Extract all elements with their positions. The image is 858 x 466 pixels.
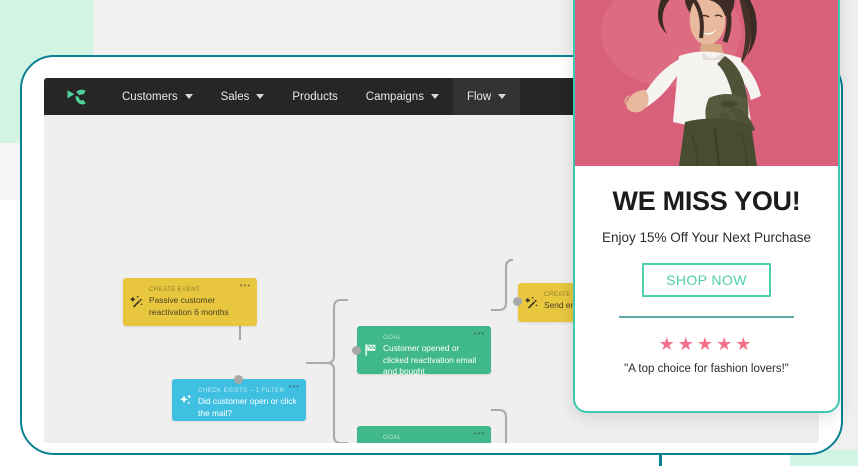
nav-item-campaigns[interactable]: Campaigns [352, 78, 453, 115]
shop-now-button[interactable]: SHOP NOW [642, 263, 771, 297]
star-rating-icon: ★★★★★ [593, 335, 820, 353]
nav-item-label: Products [292, 91, 337, 103]
nav-item-label: Flow [467, 91, 491, 103]
magic-wand-icon [129, 295, 144, 310]
nav-item-label: Campaigns [366, 91, 424, 103]
node-body-text: Passive customer reactivation 6 months [149, 295, 249, 318]
node-kicker: CREATE EVENT [149, 285, 249, 294]
flag-icon [363, 343, 378, 358]
convertkit-c-logo-icon [63, 83, 91, 111]
node-kicker: CHECK EXISTS – 1 FILTER [198, 386, 298, 395]
node-kicker: GOAL [383, 333, 483, 342]
nav-item-customers[interactable]: Customers [108, 78, 207, 115]
flow-node-create-event-reactivation[interactable]: ••• CREATE EVENT Passive customer reacti… [123, 278, 257, 326]
flow-node-goal-not-opened-but-bought[interactable]: ••• GOAL Customer did not open or click … [357, 426, 491, 443]
flow-node-goal-opened-and-bought[interactable]: ••• GOAL Customer opened or clicked reac… [357, 326, 491, 374]
nav-item-products[interactable]: Products [278, 78, 351, 115]
chevron-down-icon [498, 94, 506, 99]
node-body-text: Did customer open or click the mail? [198, 396, 298, 419]
popup-divider [619, 316, 794, 318]
sparkle-filter-icon [178, 393, 193, 408]
flag-icon [363, 443, 378, 444]
nav-item-label: Sales [221, 91, 250, 103]
popup-headline: WE MISS YOU! [593, 186, 820, 216]
app-logo[interactable] [62, 82, 92, 112]
flow-node-check-exists-filter[interactable]: ••• CHECK EXISTS – 1 FILTER Did customer… [172, 379, 306, 421]
nav-item-label: Customers [122, 91, 178, 103]
magic-wand-icon [524, 295, 539, 310]
smiling-woman-pink-background-photo [575, 0, 838, 166]
chevron-down-icon [185, 94, 193, 99]
hero-photo [575, 0, 838, 166]
node-body-text: Customer opened or clicked reactivation … [383, 343, 483, 378]
chevron-down-icon [256, 94, 264, 99]
nav-item-flow[interactable]: Flow [453, 78, 520, 115]
email-popup-preview-card: WE MISS YOU! Enjoy 15% Off Your Next Pur… [573, 0, 840, 413]
popup-subheadline: Enjoy 15% Off Your Next Purchase [593, 229, 820, 247]
node-kicker: GOAL [383, 433, 483, 442]
node-input-port[interactable] [352, 346, 361, 355]
nav-items-list: Customers Sales Products Campaigns Flow [108, 78, 520, 115]
node-input-port[interactable] [513, 297, 522, 306]
popup-testimonial-quote: "A top choice for fashion lovers!" [593, 363, 820, 375]
chevron-down-icon [431, 94, 439, 99]
popup-content: WE MISS YOU! Enjoy 15% Off Your Next Pur… [575, 166, 838, 375]
node-input-port[interactable] [234, 375, 243, 384]
nav-item-sales[interactable]: Sales [207, 78, 279, 115]
